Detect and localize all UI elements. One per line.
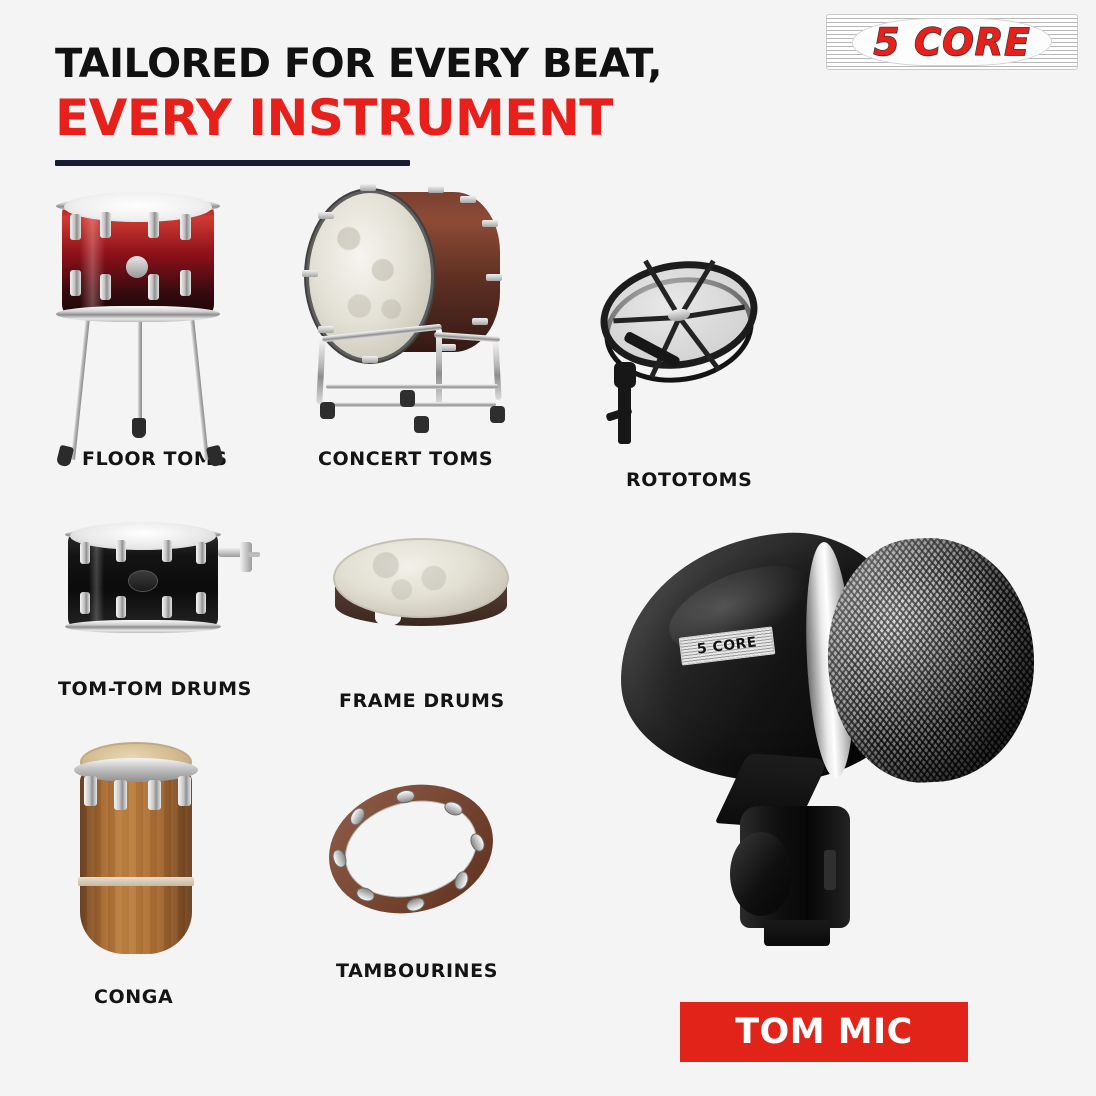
instrument-cell-rototoms: ROTOTOMS [592,252,822,491]
product-name-banner: TOM MIC [680,1002,968,1062]
mic-clip-adjust-knob [730,832,792,916]
mic-clip-base [764,920,830,946]
instrument-grid: FLOOR TOMS [40,178,600,470]
floor-tom-drum-photo [40,178,300,438]
headline-line-1: TAILORED FOR EVERY BEAT, [55,40,662,88]
mic-clip-slot [824,850,836,890]
instrument-cell-conga: CONGA [62,732,292,1008]
frame-drum-photo [327,532,567,652]
instrument-label-frame-drums: FRAME DRUMS [339,690,567,712]
instrument-label-tambourines: TAMBOURINES [336,960,562,982]
poster-canvas: 5 CORE TAILORED FOR EVERY BEAT, EVERY IN… [0,0,1096,1096]
instrument-label-floor-toms: FLOOR TOMS [82,448,300,470]
logo-text: 5 CORE [826,14,1078,70]
instrument-label-rototoms: ROTOTOMS [626,469,822,491]
headline-underline [55,160,410,166]
instrument-cell-tom-tom-drums: TOM-TOM DRUMS [50,512,310,700]
instrument-cell-floor-toms: FLOOR TOMS [40,178,300,470]
instrument-label-concert-toms: CONCERT TOMS [318,448,600,470]
conga-drum-photo [62,732,292,962]
instrument-cell-tambourines: TAMBOURINES [322,778,562,982]
tom-tom-drum-photo [50,512,310,652]
mic-badge-text: 5 CORE [696,634,758,657]
instrument-label-tom-tom-drums: TOM-TOM DRUMS [58,678,310,700]
instrument-cell-concert-toms: CONCERT TOMS [300,178,600,470]
brand-logo: 5 CORE [826,14,1078,70]
headline-block: TAILORED FOR EVERY BEAT, EVERY INSTRUMEN… [55,40,662,166]
product-name-text: TOM MIC [735,1012,913,1052]
tambourine-photo [322,778,562,928]
tom-mic-product-image: 5 CORE [612,520,1052,990]
instrument-row-1: FLOOR TOMS [40,178,600,470]
rototom-drum-photo [592,252,822,447]
instrument-label-conga: CONGA [94,986,292,1008]
concert-bass-drum-photo [300,178,600,440]
headline-line-2: EVERY INSTRUMENT [55,90,662,146]
instrument-cell-frame-drums: FRAME DRUMS [327,532,567,712]
